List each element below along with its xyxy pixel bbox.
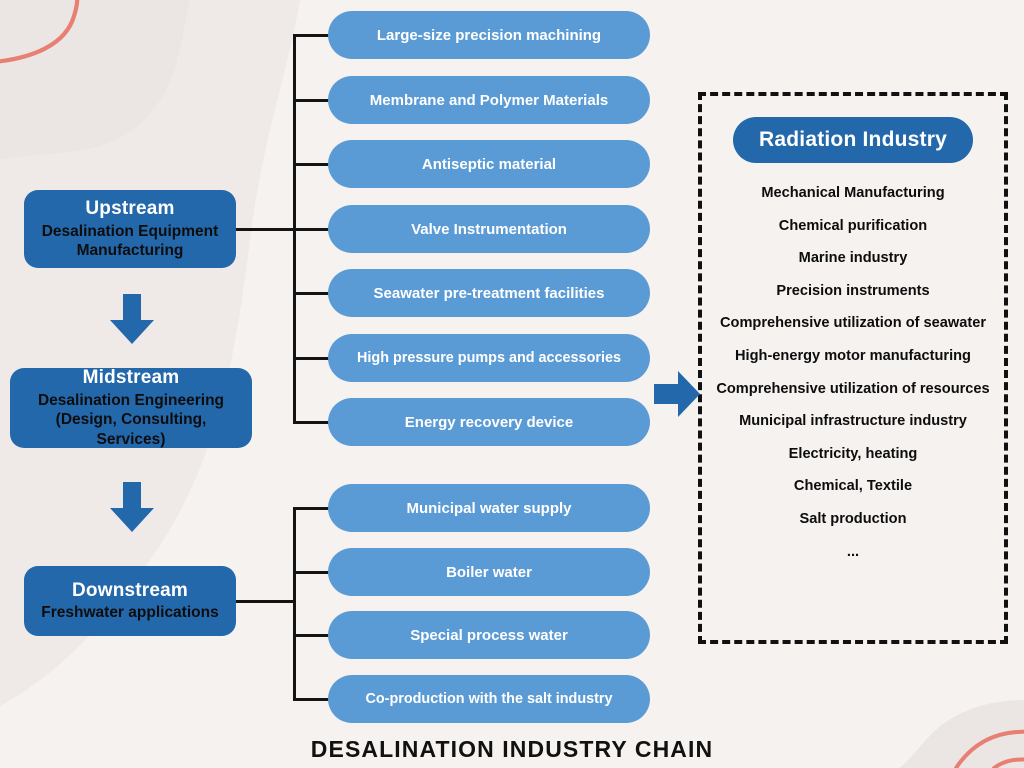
upstream-item[interactable]: Valve Instrumentation	[328, 205, 650, 253]
upstream-branch-4	[293, 228, 331, 231]
downstream-connector-stem	[234, 600, 295, 603]
stage-subtitle-midstream: Desalination Engineering (Design, Consul…	[20, 391, 242, 450]
stage-subtitle-line: (Design, Consulting, Services)	[20, 410, 242, 450]
radiation-industry-item: Salt production	[799, 503, 906, 536]
upstream-connector-stem	[234, 228, 295, 231]
downstream-branch-4	[293, 698, 331, 701]
down-arrow-upstream-to-midstream	[104, 292, 160, 348]
radiation-industry-item: Marine industry	[799, 242, 908, 275]
radiation-industry-item: Chemical purification	[779, 210, 927, 243]
stage-subtitle-downstream: Freshwater applications	[41, 603, 218, 623]
radiation-industry-item: Comprehensive utilization of resources	[716, 373, 989, 406]
upstream-item[interactable]: Large-size precision machining	[328, 11, 650, 59]
upstream-item[interactable]: Energy recovery device	[328, 398, 650, 446]
radiation-industry-list: Mechanical Manufacturing Chemical purifi…	[702, 177, 1004, 568]
downstream-branch-1	[293, 507, 331, 510]
stage-subtitle-line: Desalination Equipment	[42, 222, 219, 242]
stage-title-midstream: Midstream	[83, 366, 180, 391]
radiation-industry-item: Electricity, heating	[789, 438, 918, 471]
upstream-branch-7	[293, 421, 331, 424]
stage-title-upstream: Upstream	[85, 197, 174, 222]
radiation-industry-title: Radiation Industry	[733, 117, 973, 163]
stage-title-downstream: Downstream	[72, 579, 188, 604]
downstream-branch-2	[293, 571, 331, 574]
radiation-industry-item: Comprehensive utilization of seawater	[720, 307, 986, 340]
upstream-item[interactable]: High pressure pumps and accessories	[328, 334, 650, 382]
stage-box-midstream[interactable]: Midstream Desalination Engineering (Desi…	[10, 368, 252, 448]
downstream-item[interactable]: Boiler water	[328, 548, 650, 596]
radiation-industry-item: High-energy motor manufacturing	[735, 340, 971, 373]
page-title: DESALINATION INDUSTRY CHAIN	[0, 736, 1024, 763]
upstream-branch-1	[293, 34, 331, 37]
upstream-item[interactable]: Antiseptic material	[328, 140, 650, 188]
downstream-item[interactable]: Co-production with the salt industry	[328, 675, 650, 723]
stage-subtitle-line: Freshwater applications	[41, 603, 218, 623]
upstream-branch-5	[293, 292, 331, 295]
down-arrow-midstream-to-downstream	[104, 480, 160, 536]
radiation-industry-item: Mechanical Manufacturing	[761, 177, 944, 210]
diagram-canvas: Upstream Desalination Equipment Manufact…	[0, 0, 1024, 768]
stage-box-downstream[interactable]: Downstream Freshwater applications	[24, 566, 236, 636]
radiation-industry-ellipsis: ...	[847, 536, 859, 569]
stage-subtitle-line: Desalination Engineering	[20, 391, 242, 411]
upstream-branch-3	[293, 163, 331, 166]
downstream-item[interactable]: Special process water	[328, 611, 650, 659]
downstream-connector-spine	[293, 507, 296, 698]
downstream-item[interactable]: Municipal water supply	[328, 484, 650, 532]
upstream-item[interactable]: Membrane and Polymer Materials	[328, 76, 650, 124]
stage-box-upstream[interactable]: Upstream Desalination Equipment Manufact…	[24, 190, 236, 268]
stage-subtitle-upstream: Desalination Equipment Manufacturing	[42, 222, 219, 262]
downstream-branch-3	[293, 634, 331, 637]
upstream-item[interactable]: Seawater pre-treatment facilities	[328, 269, 650, 317]
upstream-branch-6	[293, 357, 331, 360]
stage-subtitle-line: Manufacturing	[42, 241, 219, 261]
right-arrow-to-radiation-industry	[652, 368, 702, 420]
radiation-industry-item: Municipal infrastructure industry	[739, 405, 967, 438]
radiation-industry-item: Chemical, Textile	[794, 470, 912, 503]
upstream-branch-2	[293, 99, 331, 102]
radiation-industry-panel: Radiation Industry Mechanical Manufactur…	[698, 92, 1008, 644]
radiation-industry-item: Precision instruments	[776, 275, 929, 308]
